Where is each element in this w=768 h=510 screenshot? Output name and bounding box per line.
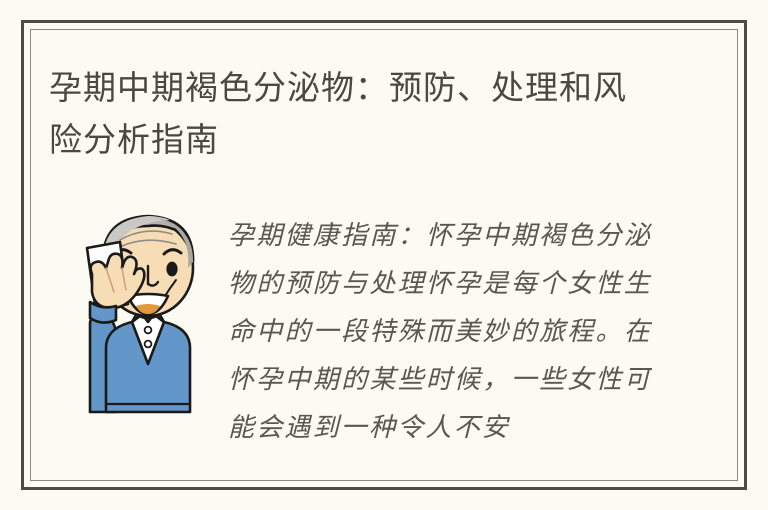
elderly-man-on-phone-illustration bbox=[44, 196, 220, 430]
article-card-page: 孕期中期褐色分泌物：预防、处理和风险分析指南 bbox=[0, 0, 768, 510]
page-title: 孕期中期褐色分泌物：预防、处理和风险分析指南 bbox=[49, 62, 649, 166]
article-body-text: 孕期健康指南：怀孕中期褐色分泌物的预防与处理怀孕是每个女性生命中的一段特殊而美妙… bbox=[228, 212, 652, 452]
